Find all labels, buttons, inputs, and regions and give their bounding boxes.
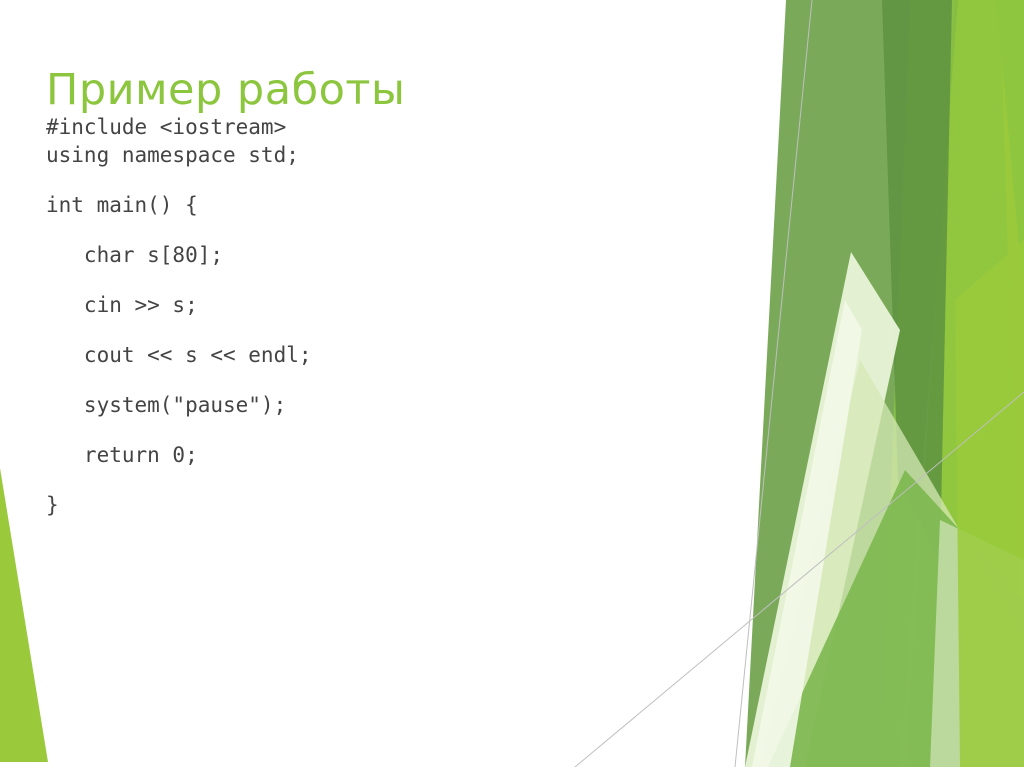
code-line: #include <iostream>	[46, 113, 736, 141]
decor-shape-lime-overlay	[955, 240, 1024, 767]
decor-shape-mid-green-sweep	[768, 470, 1024, 767]
decor-shape-pale-wedge	[745, 252, 900, 767]
page-title: Пример работы	[46, 65, 405, 115]
code-line: system("pause");	[46, 391, 736, 419]
slide-canvas: Пример работы #include <iostream>using n…	[0, 0, 1024, 767]
code-line: return 0;	[46, 441, 736, 469]
decor-shape-green-column	[880, 0, 1024, 767]
code-line: cout << s << endl;	[46, 341, 736, 369]
decor-shape-sage-band	[745, 0, 958, 767]
decor-shape-faint-wedge	[752, 300, 862, 767]
code-line: char s[80];	[46, 241, 736, 269]
code-line: cin >> s;	[46, 291, 736, 319]
decor-hairline-upper	[735, 0, 812, 767]
decor-shape-light-overlay	[930, 520, 1024, 767]
decor-shape-left-triangle	[0, 468, 48, 762]
code-line: int main() {	[46, 191, 736, 219]
decor-shape-deep-wedge	[882, 0, 952, 560]
decor-shape-lime-right	[905, 0, 1024, 767]
code-line: }	[46, 491, 736, 519]
decor-shape-bright-wedge	[908, 0, 1024, 300]
code-listing: #include <iostream>using namespace std;i…	[46, 113, 736, 519]
code-line: using namespace std;	[46, 141, 736, 169]
decor-shape-pale-triangle	[760, 360, 1024, 767]
